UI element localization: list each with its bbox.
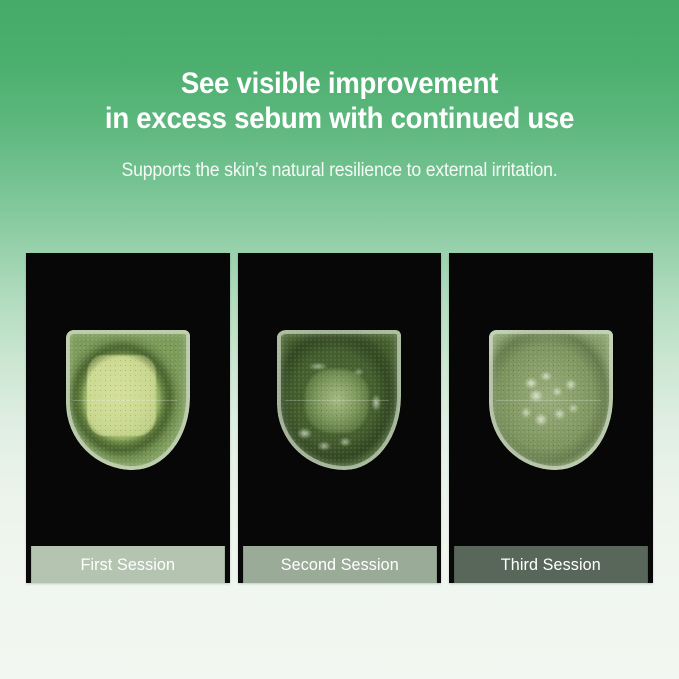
session-photo-second (238, 253, 442, 546)
patch-wrap-first (66, 330, 190, 470)
session-caption-second: Second Session (243, 546, 436, 583)
header-block: See visible improvement in excess sebum … (0, 0, 679, 182)
patch-wrap-third (489, 330, 613, 470)
session-caption-third: Third Session (454, 546, 647, 583)
session-comparison-row: First Session Second S (26, 253, 653, 583)
patch-halo-layer (277, 330, 401, 470)
subtitle: Supports the skin’s natural resilience t… (24, 160, 655, 182)
promo-banner: See visible improvement in excess sebum … (0, 0, 679, 679)
session-caption-label: First Session (81, 555, 176, 575)
patch-wrap-second (277, 330, 401, 470)
sebum-patch-second (277, 330, 401, 470)
headline-line-2: in excess sebum with continued use (27, 101, 652, 136)
session-panel-second: Second Session (238, 253, 442, 583)
session-panel-first: First Session (26, 253, 230, 583)
headline-line-1: See visible improvement (27, 66, 652, 101)
session-caption-first: First Session (31, 546, 224, 583)
patch-halo-layer (489, 330, 613, 470)
session-panel-third: Third Session (449, 253, 653, 583)
session-caption-label: Third Session (501, 555, 601, 575)
session-photo-first (26, 253, 230, 546)
session-caption-label: Second Session (280, 555, 398, 575)
session-photo-third (449, 253, 653, 546)
sebum-patch-third (489, 330, 613, 470)
patch-halo-layer (66, 330, 190, 470)
sebum-patch-first (66, 330, 190, 470)
